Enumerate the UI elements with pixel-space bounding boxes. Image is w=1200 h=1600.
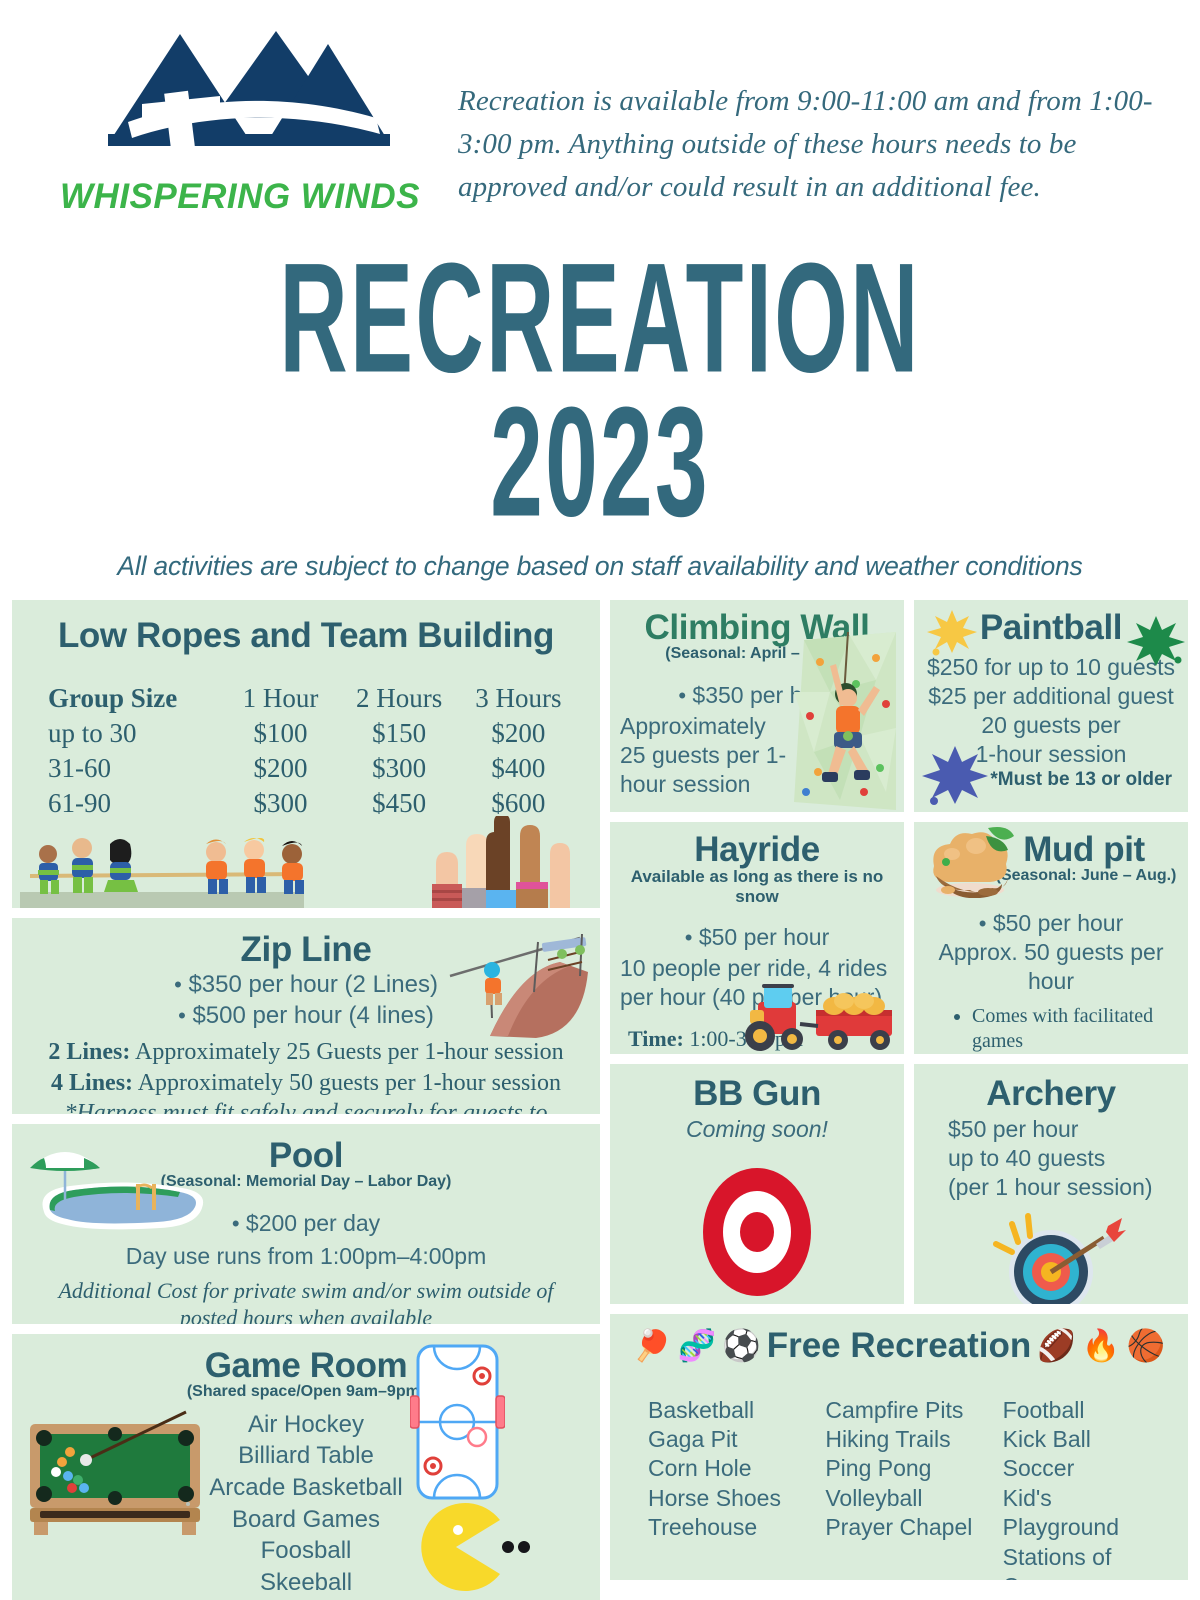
list-item: Basketball bbox=[648, 1396, 817, 1425]
cell-price: $300 bbox=[340, 751, 459, 786]
paintball-line-3: 20 guests per bbox=[924, 711, 1178, 740]
free-recreation-header: 🏓 🧬 ⚽ Free Recreation 🏈 🔥 🏀 bbox=[626, 1326, 1172, 1366]
archery-target-icon bbox=[976, 1210, 1126, 1304]
ping-pong-paddle-icon: 🏓 bbox=[633, 1330, 672, 1361]
mud-pit-bullet-list: Comes with facilitated games No Age Limi… bbox=[924, 1004, 1178, 1054]
mud-pit-icon bbox=[922, 824, 1018, 898]
hayride-price: $50 per hour bbox=[699, 924, 829, 950]
card-game-room: Game Room (Shared space/Open 9am–9pm) Ai… bbox=[12, 1334, 600, 1600]
bullet-icon: • bbox=[174, 972, 182, 997]
mountain-logo-icon bbox=[80, 26, 400, 171]
air-hockey-table-icon bbox=[410, 1342, 505, 1502]
cell-price: $200 bbox=[459, 716, 578, 751]
col-3-hours: 3 Hours bbox=[459, 681, 578, 716]
free-recreation-columns: Basketball Gaga Pit Corn Hole Horse Shoe… bbox=[626, 1396, 1172, 1580]
cell-price: $100 bbox=[222, 716, 340, 751]
zip-bullet-text: $350 per hour (2 Lines) bbox=[188, 971, 438, 998]
list-item: Kid's Playground bbox=[1003, 1484, 1172, 1543]
archery-title: Archery bbox=[924, 1074, 1178, 1113]
list-item: Horse Shoes bbox=[648, 1484, 817, 1513]
bullet-icon: • bbox=[979, 911, 987, 936]
list-item: Soccer bbox=[1003, 1454, 1172, 1483]
card-free-recreation: 🏓 🧬 ⚽ Free Recreation 🏈 🔥 🏀 Basketball G… bbox=[610, 1314, 1188, 1580]
zip-2-lines-label: 2 Lines: bbox=[48, 1039, 130, 1065]
col-group-size: Group Size bbox=[34, 681, 222, 716]
card-paintball: Paintball $250 for up to 10 guests $25 p… bbox=[914, 600, 1188, 812]
list-item: Volleyball bbox=[825, 1484, 994, 1513]
cell-price: $300 bbox=[222, 786, 340, 821]
row-climbing-paintball: Climbing Wall (Seasonal: April – Sept.) … bbox=[610, 600, 1188, 812]
zip-bullet-text: $500 per hour (4 lines) bbox=[192, 1002, 433, 1029]
paint-splatter-yellow-icon bbox=[926, 606, 982, 658]
row-label: up to 30 bbox=[34, 716, 222, 751]
card-hayride: Hayride Available as long as there is no… bbox=[610, 822, 904, 1054]
content-grid: Low Ropes and Team Building Group Size 1… bbox=[0, 582, 1200, 1600]
list-item: Kick Ball bbox=[1003, 1425, 1172, 1454]
mud-pit-price-row: • $50 per hour bbox=[924, 909, 1178, 938]
list-item: Treehouse bbox=[648, 1513, 817, 1542]
list-item: Pac-man bbox=[30, 1599, 582, 1600]
card-climbing-wall: Climbing Wall (Seasonal: April – Sept.) … bbox=[610, 600, 904, 812]
archery-line-3: (per 1 hour session) bbox=[924, 1173, 1178, 1202]
card-zip-line: Zip Line • $350 per hour (2 Lines) • $50… bbox=[12, 918, 600, 1114]
list-item: Ping Pong bbox=[825, 1454, 994, 1483]
page-title: RECREATION 2023 bbox=[156, 247, 1044, 534]
page-header: WHISPERING WINDS Recreation is available… bbox=[0, 0, 1200, 245]
cell-price: $200 bbox=[222, 751, 340, 786]
bullet-icon: • bbox=[232, 1211, 240, 1236]
archery-line-2: up to 40 guests bbox=[924, 1144, 1178, 1173]
cell-price: $150 bbox=[340, 716, 459, 751]
basketball-icon: 🏀 bbox=[1127, 1330, 1166, 1361]
card-low-ropes: Low Ropes and Team Building Group Size 1… bbox=[12, 600, 600, 908]
horseshoe-icon: 🧬 bbox=[678, 1330, 717, 1361]
right-column: Climbing Wall (Seasonal: April – Sept.) … bbox=[610, 600, 1188, 1600]
list-item: Prayer Chapel bbox=[825, 1513, 994, 1542]
climbing-wall-icon bbox=[790, 632, 902, 810]
zip-4-lines-row: 4 Lines: Approximately 50 guests per 1-h… bbox=[30, 1068, 582, 1098]
free-rec-column-1: Basketball Gaga Pit Corn Hole Horse Shoe… bbox=[648, 1396, 817, 1580]
list-item: Football bbox=[1003, 1396, 1172, 1425]
list-item: Comes with facilitated games bbox=[972, 1004, 1178, 1054]
list-item: Stations of Cross bbox=[1003, 1543, 1172, 1580]
paint-splatter-green-icon bbox=[1126, 614, 1186, 666]
pool-note: Additional Cost for private swim and/or … bbox=[30, 1277, 582, 1324]
card-pool: Pool (Seasonal: Memorial Day – Labor Day… bbox=[12, 1124, 600, 1324]
free-recreation-title: Free Recreation bbox=[767, 1326, 1032, 1366]
free-rec-column-2: Campfire Pits Hiking Trails Ping Pong Vo… bbox=[817, 1396, 994, 1580]
row-bbgun-archery: BB Gun Coming soon! Archery $50 per hour… bbox=[610, 1064, 1188, 1304]
brand-name: WHISPERING WINDS bbox=[60, 177, 420, 217]
list-item: Campfire Pits bbox=[825, 1396, 994, 1425]
zip-harness-note: *Harness must fit safely and securely fo… bbox=[30, 1098, 582, 1114]
row-label: 31-60 bbox=[34, 751, 222, 786]
zip-4-lines-label: 4 Lines: bbox=[51, 1070, 133, 1096]
paintball-line-2: $25 per additional guest bbox=[924, 682, 1178, 711]
free-rec-column-3: Football Kick Ball Soccer Kid's Playgrou… bbox=[995, 1396, 1172, 1580]
paint-splatter-blue-icon bbox=[922, 744, 988, 806]
row-label: 61-90 bbox=[34, 786, 222, 821]
low-ropes-price-table: Group Size 1 Hour 2 Hours 3 Hours up to … bbox=[34, 681, 578, 821]
bullet-icon: • bbox=[178, 1003, 186, 1028]
page-subtitle: All activities are subject to change bas… bbox=[0, 551, 1200, 582]
col-1-hour: 1 Hour bbox=[222, 681, 340, 716]
card-archery: Archery $50 per hour up to 40 guests (pe… bbox=[914, 1064, 1188, 1304]
left-column: Low Ropes and Team Building Group Size 1… bbox=[12, 600, 600, 1600]
football-icon: 🏈 bbox=[1037, 1330, 1076, 1361]
mud-pit-price: $50 per hour bbox=[993, 910, 1123, 936]
high-five-hands-icon bbox=[424, 816, 574, 908]
billiard-table-icon bbox=[26, 1410, 204, 1535]
hayride-availability: Available as long as there is no snow bbox=[620, 867, 894, 907]
pool-icon bbox=[26, 1138, 216, 1258]
pacman-icon bbox=[412, 1502, 532, 1592]
tractor-hayride-icon bbox=[738, 976, 898, 1052]
pool-price: $200 per day bbox=[246, 1210, 380, 1236]
bullet-icon: • bbox=[678, 683, 686, 708]
hayride-age-limit: No Age Limit bbox=[620, 1052, 894, 1054]
tug-of-war-icon bbox=[20, 828, 360, 908]
campfire-icon: 🔥 bbox=[1082, 1330, 1121, 1361]
brand-logo: WHISPERING WINDS bbox=[60, 18, 420, 217]
list-item: Corn Hole bbox=[648, 1454, 817, 1483]
soccer-ball-icon: ⚽ bbox=[722, 1330, 761, 1361]
list-item: Hiking Trails bbox=[825, 1425, 994, 1454]
low-ropes-title: Low Ropes and Team Building bbox=[34, 616, 578, 655]
zip-2-lines-detail: Approximately 25 Guests per 1-hour sessi… bbox=[130, 1039, 563, 1065]
hours-note: Recreation is available from 9:00-11:00 … bbox=[420, 18, 1170, 209]
bb-gun-status: Coming soon! bbox=[620, 1115, 894, 1144]
target-icon bbox=[703, 1168, 811, 1296]
zip-line-icon bbox=[430, 932, 590, 1042]
zip-4-lines-detail: Approximately 50 guests per 1-hour sessi… bbox=[133, 1070, 561, 1096]
hayride-title: Hayride bbox=[620, 830, 894, 869]
table-row: 31-60 $200 $300 $400 bbox=[34, 751, 578, 786]
archery-line-1: $50 per hour bbox=[924, 1115, 1178, 1144]
mud-pit-detail: Approx. 50 guests per hour bbox=[924, 938, 1178, 996]
title-zone: RECREATION 2023 All activities are subje… bbox=[0, 245, 1200, 582]
col-2-hours: 2 Hours bbox=[340, 681, 459, 716]
zip-2-lines-row: 2 Lines: Approximately 25 Guests per 1-h… bbox=[30, 1037, 582, 1067]
hayride-price-row: • $50 per hour bbox=[620, 923, 894, 952]
table-header-row: Group Size 1 Hour 2 Hours 3 Hours bbox=[34, 681, 578, 716]
bullet-icon: • bbox=[685, 925, 693, 950]
row-hayride-mudpit: Hayride Available as long as there is no… bbox=[610, 822, 1188, 1054]
table-row: up to 30 $100 $150 $200 bbox=[34, 716, 578, 751]
list-item: Gaga Pit bbox=[648, 1425, 817, 1454]
hayride-time-label: Time: bbox=[628, 1026, 684, 1051]
page-corner-dot bbox=[186, 1502, 190, 1506]
cell-price: $400 bbox=[459, 751, 578, 786]
card-mud-pit: Mud pit (Seasonal: June – Aug.) • $50 pe… bbox=[914, 822, 1188, 1054]
bb-gun-title: BB Gun bbox=[620, 1074, 894, 1113]
card-bb-gun: BB Gun Coming soon! bbox=[610, 1064, 904, 1304]
